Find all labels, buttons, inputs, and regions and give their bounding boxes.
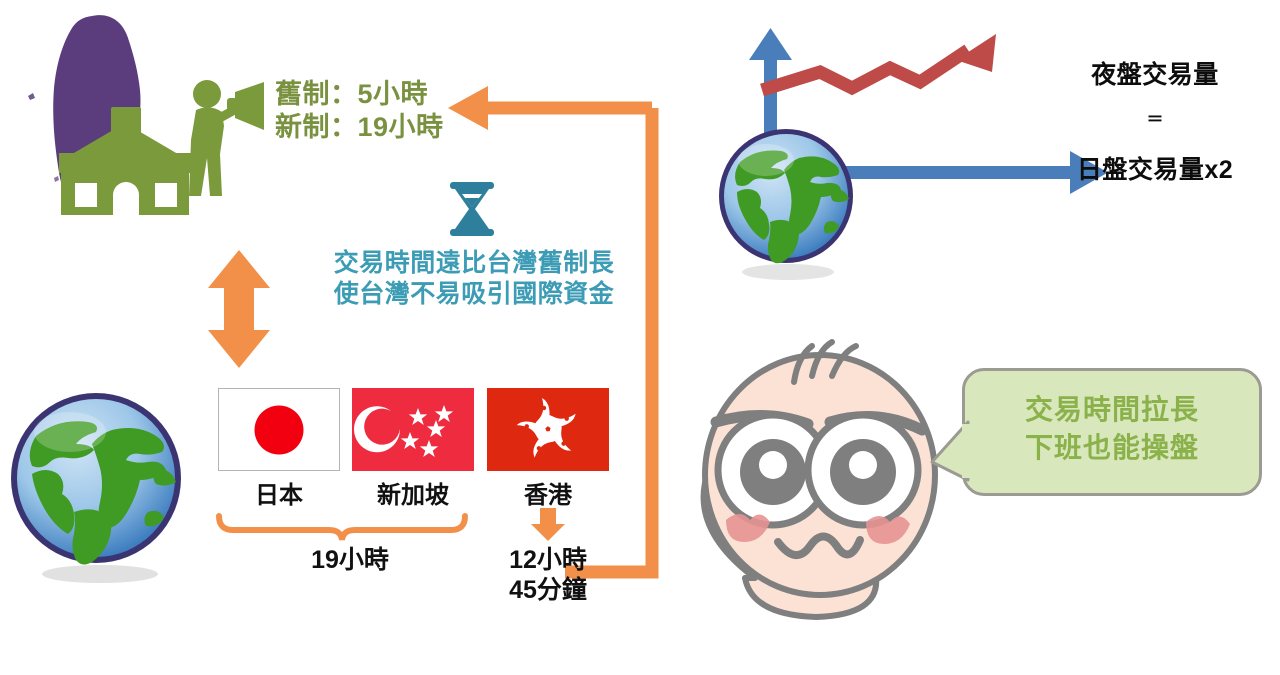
speech-bubble: 交易時間拉長 下班也能操盤 xyxy=(962,368,1262,496)
night-session-volume-label: 夜盤交易量 xyxy=(1030,60,1280,90)
rising-trend-line-icon xyxy=(762,34,996,90)
day-session-volume-label: 日盤交易量x2 xyxy=(1030,155,1280,185)
japan-singapore-duration: 19小時 xyxy=(275,545,425,575)
japan-flag xyxy=(218,388,340,471)
vertical-double-arrow-icon xyxy=(198,248,288,370)
curly-brace-icon xyxy=(215,512,470,542)
speech-bubble-text: 交易時間拉長 下班也能操盤 xyxy=(965,371,1259,467)
japan-label: 日本 xyxy=(214,475,344,510)
hourglass-icon xyxy=(443,180,501,238)
down-arrow-icon xyxy=(528,508,568,542)
infographic-canvas: 舊制：5小時 新制：19小時 交易時間遠比台灣舊制長 使台灣不易吸引國際資金 xyxy=(0,0,1280,675)
equals-sign: ＝ xyxy=(1030,105,1280,130)
japan-red-disc xyxy=(255,405,304,454)
person-with-megaphone-icon xyxy=(180,78,280,198)
hongkong-duration: 12小時 45分鐘 xyxy=(483,545,613,605)
taiwan-trading-hours-text: 舊制：5小時 新制：19小時 xyxy=(275,78,444,144)
trading-hours-note-text: 交易時間遠比台灣舊制長 使台灣不易吸引國際資金 xyxy=(318,248,630,310)
globe-icon xyxy=(718,128,866,283)
globe-icon xyxy=(8,392,198,587)
speech-bubble-tail xyxy=(928,420,978,490)
cute-character-mascot xyxy=(660,330,990,675)
